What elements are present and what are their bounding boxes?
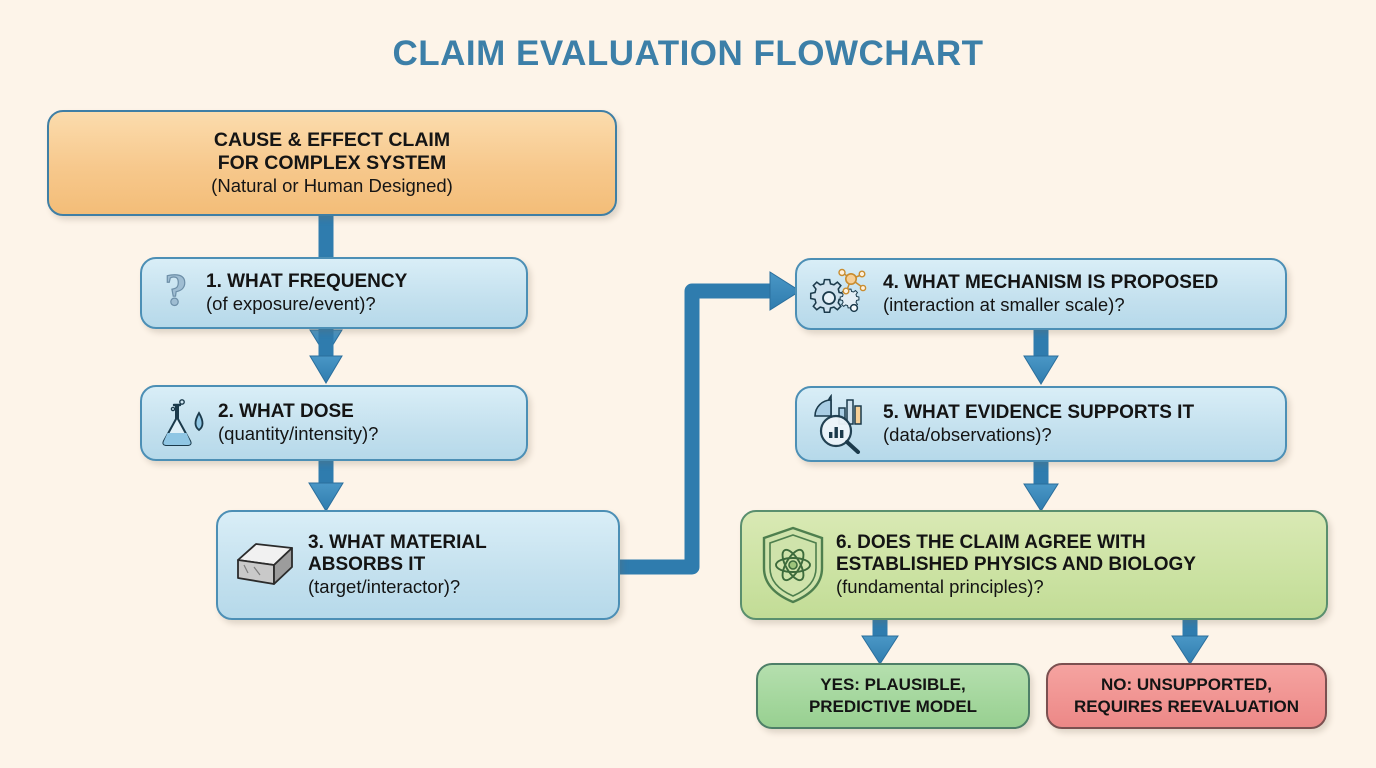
arrow-q5-to-q6 bbox=[1024, 462, 1058, 511]
node-yes-text: YES: PLAUSIBLE, PREDICTIVE MODEL bbox=[766, 674, 1020, 718]
node-step-1-frequency[interactable]: ? 1. WHAT FREQUENCY (of exposure/event)? bbox=[140, 257, 528, 329]
shield-atom-icon bbox=[758, 524, 828, 606]
node-no-text: NO: UNSUPPORTED, REQUIRES REEVALUATION bbox=[1056, 674, 1317, 718]
node-claim-text: CAUSE & EFFECT CLAIM FOR COMPLEX SYSTEM … bbox=[63, 129, 601, 196]
node-step-2-dose[interactable]: 2. WHAT DOSE (quantity/intensity)? bbox=[140, 385, 528, 461]
arrow-q6-to-no bbox=[1172, 620, 1208, 664]
magnifier-chart-icon bbox=[809, 394, 875, 454]
node-q5-text: 5. WHAT EVIDENCE SUPPORTS IT (data/obser… bbox=[875, 402, 1271, 446]
arrow-q4-to-q5 bbox=[1024, 330, 1058, 384]
q1-line-2: (of exposure/event)? bbox=[206, 293, 512, 315]
flowchart-canvas: CLAIM EVALUATION FLOWCHART bbox=[0, 0, 1376, 768]
node-step-6-decision[interactable]: 6. DOES THE CLAIM AGREE WITH ESTABLISHED… bbox=[740, 510, 1328, 620]
page-title: CLAIM EVALUATION FLOWCHART bbox=[0, 34, 1376, 74]
node-step-3-material[interactable]: 3. WHAT MATERIAL ABSORBS IT (target/inte… bbox=[216, 510, 620, 620]
q1-line-1: 1. WHAT FREQUENCY bbox=[206, 271, 512, 293]
no-line-2: REQUIRES REEVALUATION bbox=[1056, 696, 1317, 718]
node-q1-text: 1. WHAT FREQUENCY (of exposure/event)? bbox=[198, 271, 512, 315]
node-outcome-no[interactable]: NO: UNSUPPORTED, REQUIRES REEVALUATION bbox=[1046, 663, 1327, 729]
material-cube-icon bbox=[230, 534, 300, 596]
yes-line-2: PREDICTIVE MODEL bbox=[766, 696, 1020, 718]
q4-line-2: (interaction at smaller scale)? bbox=[883, 294, 1271, 316]
q6-line-1b: ESTABLISHED PHYSICS AND BIOLOGY bbox=[836, 554, 1312, 576]
flask-droplet-icon bbox=[154, 395, 210, 451]
node-q4-text: 4. WHAT MECHANISM IS PROPOSED (interacti… bbox=[875, 272, 1271, 316]
q2-line-1: 2. WHAT DOSE bbox=[218, 401, 512, 423]
node-step-5-evidence[interactable]: 5. WHAT EVIDENCE SUPPORTS IT (data/obser… bbox=[795, 386, 1287, 462]
no-line-1: NO: UNSUPPORTED, bbox=[1056, 674, 1317, 696]
node-step-4-mechanism[interactable]: 4. WHAT MECHANISM IS PROPOSED (interacti… bbox=[795, 258, 1287, 330]
q2-line-2: (quantity/intensity)? bbox=[218, 423, 512, 445]
claim-line-2: FOR COMPLEX SYSTEM bbox=[63, 152, 601, 175]
q6-line-2: (fundamental principles)? bbox=[836, 576, 1312, 598]
arrow-q6-to-yes bbox=[862, 620, 898, 664]
gears-molecule-icon bbox=[809, 265, 875, 323]
node-q2-text: 2. WHAT DOSE (quantity/intensity)? bbox=[210, 401, 512, 445]
yes-line-1: YES: PLAUSIBLE, bbox=[766, 674, 1020, 696]
q3-line-1b: ABSORBS IT bbox=[308, 554, 604, 576]
q5-line-1: 5. WHAT EVIDENCE SUPPORTS IT bbox=[883, 402, 1271, 424]
q4-line-1: 4. WHAT MECHANISM IS PROPOSED bbox=[883, 272, 1271, 294]
claim-line-3: (Natural or Human Designed) bbox=[63, 175, 601, 197]
question-mark-icon: ? bbox=[154, 267, 198, 319]
q3-line-1: 3. WHAT MATERIAL bbox=[308, 532, 604, 554]
node-q3-text: 3. WHAT MATERIAL ABSORBS IT (target/inte… bbox=[300, 532, 604, 598]
arrow-q2-to-q3 bbox=[309, 461, 343, 511]
node-outcome-yes[interactable]: YES: PLAUSIBLE, PREDICTIVE MODEL bbox=[756, 663, 1030, 729]
svg-text:?: ? bbox=[165, 267, 188, 315]
q3-line-2: (target/interactor)? bbox=[308, 576, 604, 598]
node-q6-text: 6. DOES THE CLAIM AGREE WITH ESTABLISHED… bbox=[828, 532, 1312, 598]
claim-line-1: CAUSE & EFFECT CLAIM bbox=[63, 129, 601, 152]
arrow-q1-to-q2 bbox=[310, 329, 342, 383]
q5-line-2: (data/observations)? bbox=[883, 424, 1271, 446]
q6-line-1: 6. DOES THE CLAIM AGREE WITH bbox=[836, 532, 1312, 554]
node-cause-effect-claim[interactable]: CAUSE & EFFECT CLAIM FOR COMPLEX SYSTEM … bbox=[47, 110, 617, 216]
